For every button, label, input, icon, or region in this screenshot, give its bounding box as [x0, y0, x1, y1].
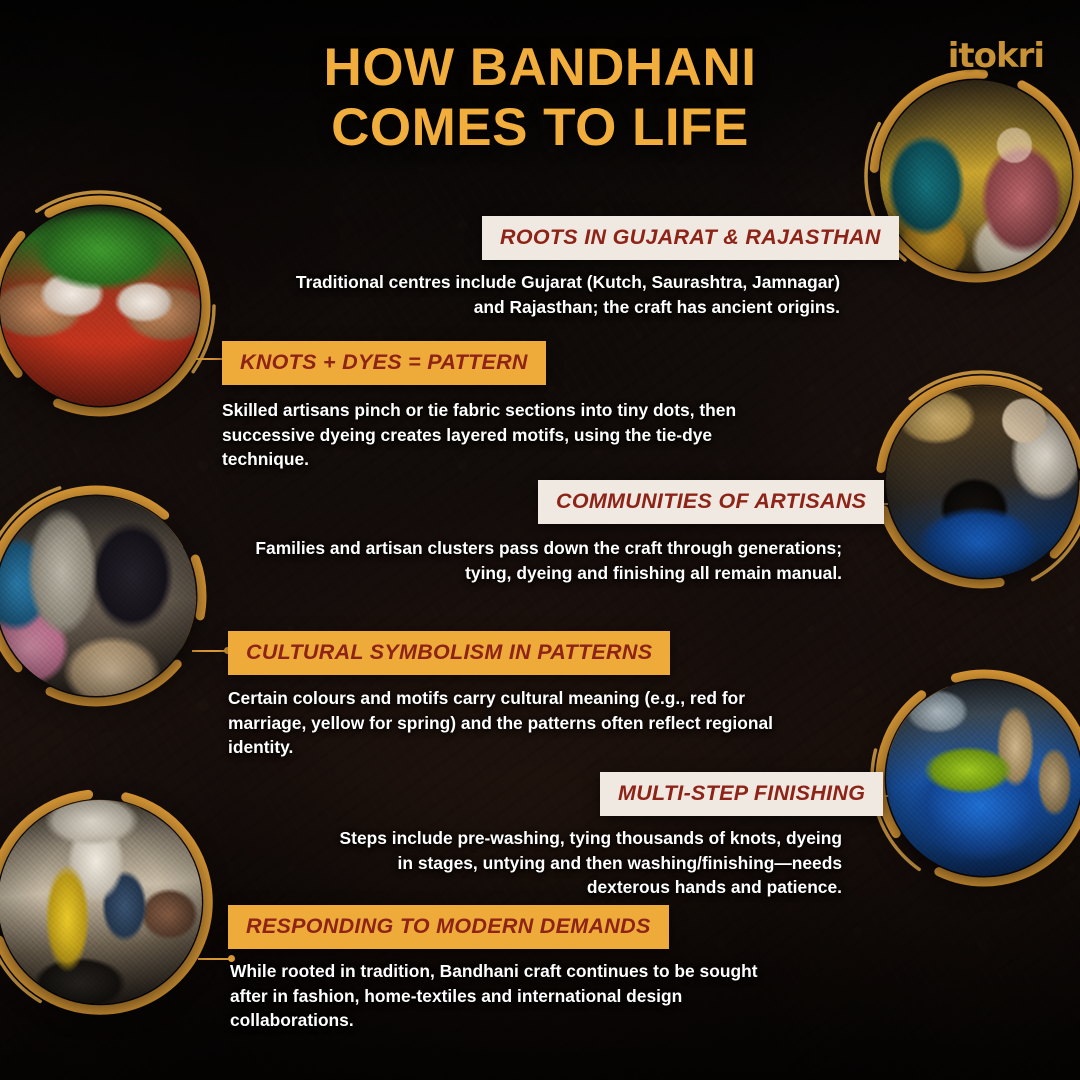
photo-indigo-dye-vat	[886, 680, 1080, 876]
section-heading-roots-in-gujarat-rajasthan[interactable]: ROOTS IN GUJARAT & RAJASTHAN	[482, 216, 899, 260]
section-body-communities-of-artisans: Families and artisan clusters pass down …	[246, 536, 842, 585]
photo-women-seated-tying	[0, 496, 196, 696]
section-body-cultural-symbolism-in-patterns: Certain colours and motifs carry cultura…	[228, 686, 774, 760]
title-line-1: HOW BANDHANI	[324, 38, 757, 97]
photo-man-lifting-yellow-skeins	[0, 800, 202, 1004]
section-body-knots-dyes-pattern: Skilled artisans pinch or tie fabric sec…	[222, 398, 752, 472]
connector-line-6	[198, 958, 232, 960]
section-heading-multi-step-finishing[interactable]: MULTI-STEP FINISHING	[600, 772, 883, 816]
section-heading-knots-dyes-pattern[interactable]: KNOTS + DYES = PATTERN	[222, 341, 546, 385]
section-body-responding-to-modern-demands: While rooted in tradition, Bandhani craf…	[230, 959, 790, 1033]
photo-dyer-blue-tub-gloves	[886, 386, 1078, 578]
page-title: HOW BANDHANI COMES TO LIFE	[0, 38, 1080, 158]
photo-hands-tying-red-fabric	[0, 206, 200, 406]
section-body-multi-step-finishing: Steps include pre-washing, tying thousan…	[320, 826, 842, 900]
itokri-logo[interactable]: itokri	[948, 36, 1044, 76]
section-heading-communities-of-artisans[interactable]: COMMUNITIES OF ARTISANS	[538, 480, 884, 524]
section-body-roots-in-gujarat-rajasthan: Traditional centres include Gujarat (Kut…	[280, 270, 840, 319]
title-line-2: COMES TO LIFE	[0, 98, 1080, 158]
connector-line-4	[192, 650, 228, 652]
section-heading-cultural-symbolism-in-patterns[interactable]: CULTURAL SYMBOLISM IN PATTERNS	[228, 631, 670, 675]
infographic-poster: itokri HOW BANDHANI COMES TO LIFE	[0, 0, 1080, 1080]
section-heading-responding-to-modern-demands[interactable]: RESPONDING TO MODERN DEMANDS	[228, 905, 669, 949]
